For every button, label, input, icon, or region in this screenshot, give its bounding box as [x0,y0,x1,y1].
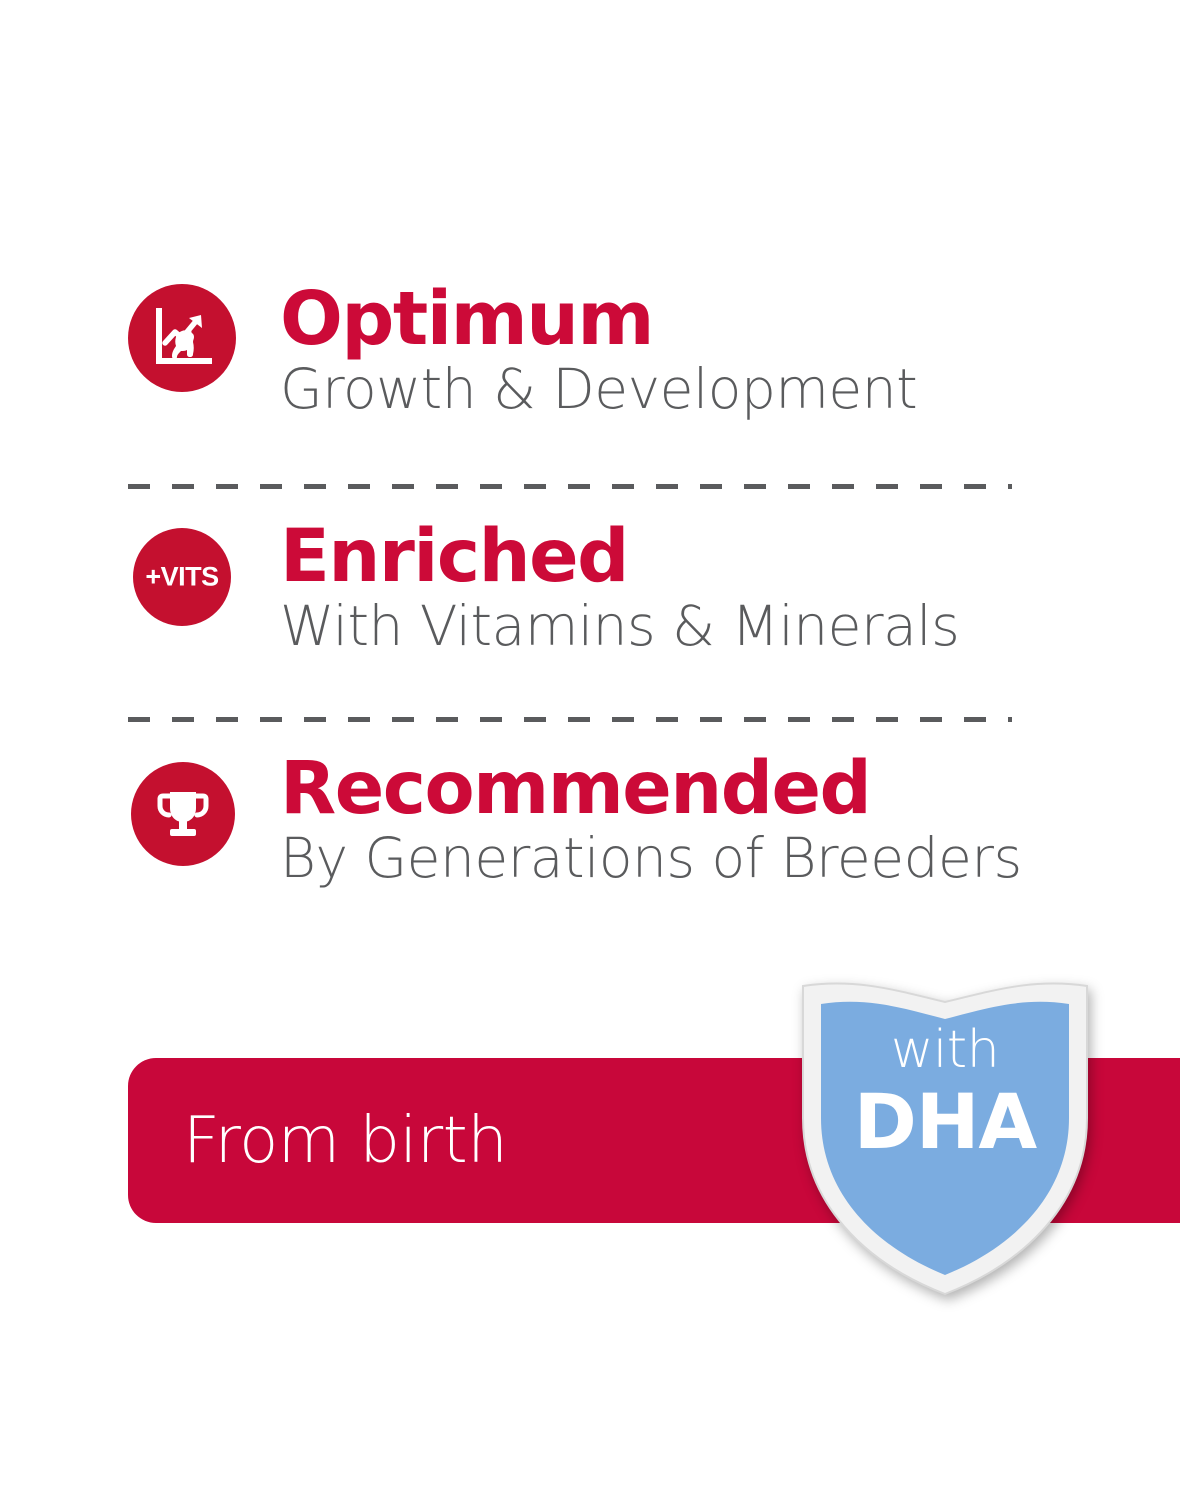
benefit-headline: Optimum [280,284,1088,355]
growth-chart-dog-icon [128,284,236,392]
divider-dashed-2 [128,717,1012,722]
with-dha-shield-badge: with DHA [795,968,1095,1298]
benefit-text-block: Optimum Growth & Development [280,284,1088,421]
banner-label: From birth [183,1104,507,1178]
benefit-text-block: Recommended By Generations of Breeders [280,754,1088,890]
benefit-text-block: Enriched With Vitamins & Minerals [280,522,1088,658]
benefit-subline: With Vitamins & Minerals [280,596,1088,658]
benefit-item-enriched: +VITS Enriched With Vitamins & Minerals [128,522,1088,658]
benefit-headline: Recommended [280,754,1088,824]
plus-vits-label: +VITS [145,562,218,593]
plus-vits-icon: +VITS [133,528,231,626]
benefit-item-optimum: Optimum Growth & Development [128,284,1088,421]
benefit-headline: Enriched [280,522,1088,592]
benefit-subline: Growth & Development [280,359,1088,421]
divider-dashed-1 [128,484,1012,489]
product-benefits-panel: Optimum Growth & Development +VITS Enric… [0,0,1180,1508]
trophy-icon [131,762,235,866]
benefit-item-recommended: Recommended By Generations of Breeders [128,754,1088,890]
benefit-subline: By Generations of Breeders [280,828,1088,890]
